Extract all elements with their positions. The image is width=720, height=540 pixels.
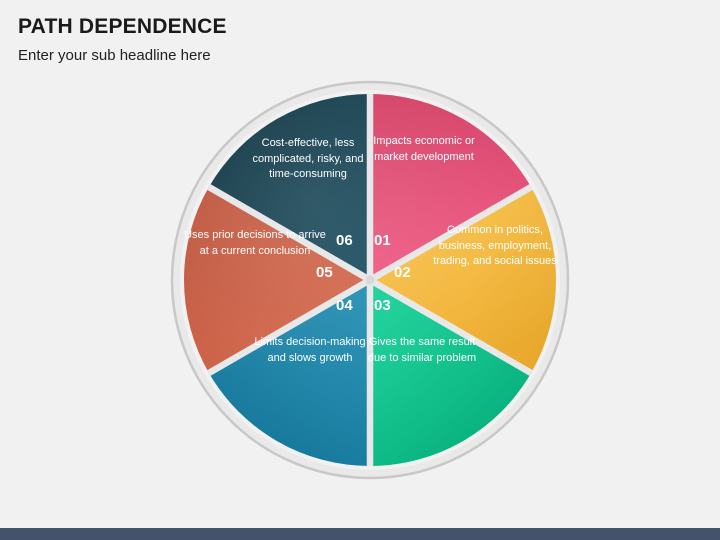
segment-number-01: 01 [374, 232, 391, 249]
segment-number-06: 06 [336, 232, 353, 249]
segment-number-04: 04 [336, 297, 353, 314]
page-subtitle: Enter your sub headline here [18, 46, 678, 66]
segment-number-05: 05 [316, 264, 333, 281]
segment-number-02: 02 [394, 264, 411, 281]
footer-accent-bar [0, 528, 720, 540]
header: PATH DEPENDENCE Enter your sub headline … [18, 14, 678, 66]
page-title: PATH DEPENDENCE [18, 14, 678, 40]
hub-center [366, 276, 375, 285]
pie-wheel-diagram: Impacts economic or market development C… [168, 78, 572, 482]
pie-chart-svg [168, 78, 572, 482]
segment-number-03: 03 [374, 297, 391, 314]
